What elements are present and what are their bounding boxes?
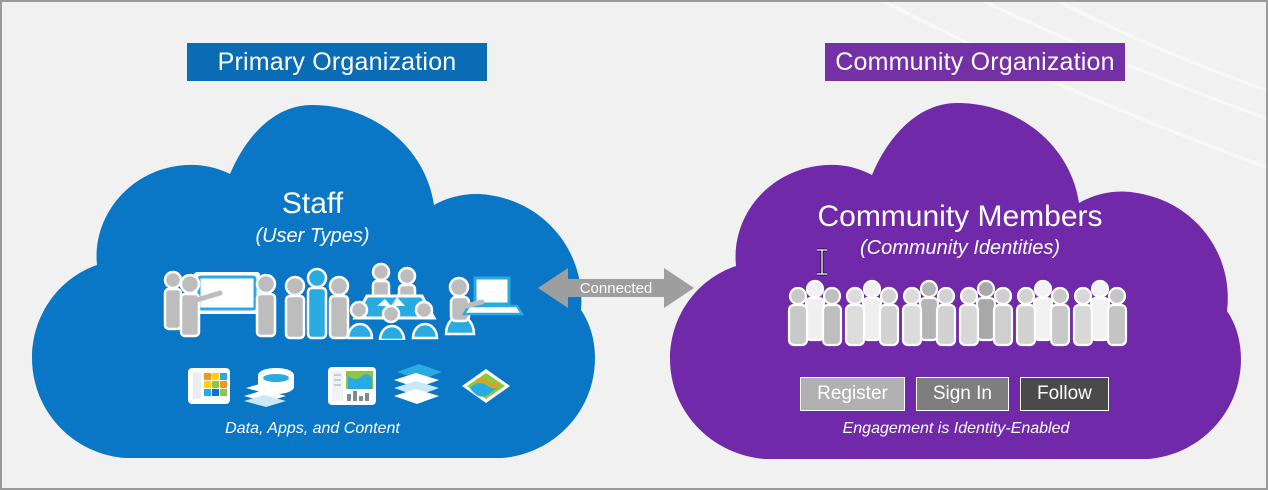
app-grid-icon [188, 368, 230, 404]
follow-button[interactable]: Follow [1020, 377, 1109, 411]
standing-people-icon [286, 269, 348, 338]
crowd-group [1074, 281, 1126, 345]
meeting-table-icon [348, 264, 437, 340]
community-crowd-icons [667, 275, 1242, 347]
community-cloud-title: Community Members [707, 200, 1213, 234]
primary-cloud-caption: Data, Apps, and Content [30, 420, 595, 438]
layers-icon [394, 364, 442, 404]
dashboard-icon [328, 367, 376, 405]
presentation-group-icon [165, 272, 275, 336]
crowd-group [789, 281, 841, 345]
crowd-group [960, 281, 1012, 345]
staff-icons-row [30, 262, 595, 340]
content-icons-row [30, 362, 595, 410]
community-organization-cloud: Community Members (Community Identities) [667, 97, 1242, 472]
banner-community-organization: Community Organization [825, 43, 1125, 81]
community-action-buttons: Register Sign In Follow [667, 377, 1242, 411]
diagram-canvas: Primary Organization Community Organizat… [0, 0, 1268, 490]
community-cloud-caption: Engagement is Identity-Enabled [703, 420, 1209, 438]
banner-primary-organization: Primary Organization [187, 43, 487, 81]
person-laptop-icon [446, 278, 522, 334]
crowd-group [846, 281, 898, 345]
connected-arrow: Connected [538, 264, 694, 312]
database-icon [244, 368, 294, 407]
sign-in-button[interactable]: Sign In [916, 377, 1009, 411]
primary-organization-cloud: Staff (User Types) [30, 97, 595, 472]
community-cloud-subtitle: (Community Identities) [707, 237, 1213, 260]
register-button[interactable]: Register [800, 377, 905, 411]
connected-label: Connected [538, 264, 694, 312]
crowd-group [1017, 281, 1069, 345]
map-tile-icon [462, 369, 510, 403]
banner-primary-label: Primary Organization [218, 48, 457, 77]
banner-community-label: Community Organization [835, 48, 1115, 77]
primary-cloud-title: Staff [30, 187, 595, 221]
primary-cloud-subtitle: (User Types) [30, 225, 595, 248]
crowd-group [903, 281, 955, 345]
